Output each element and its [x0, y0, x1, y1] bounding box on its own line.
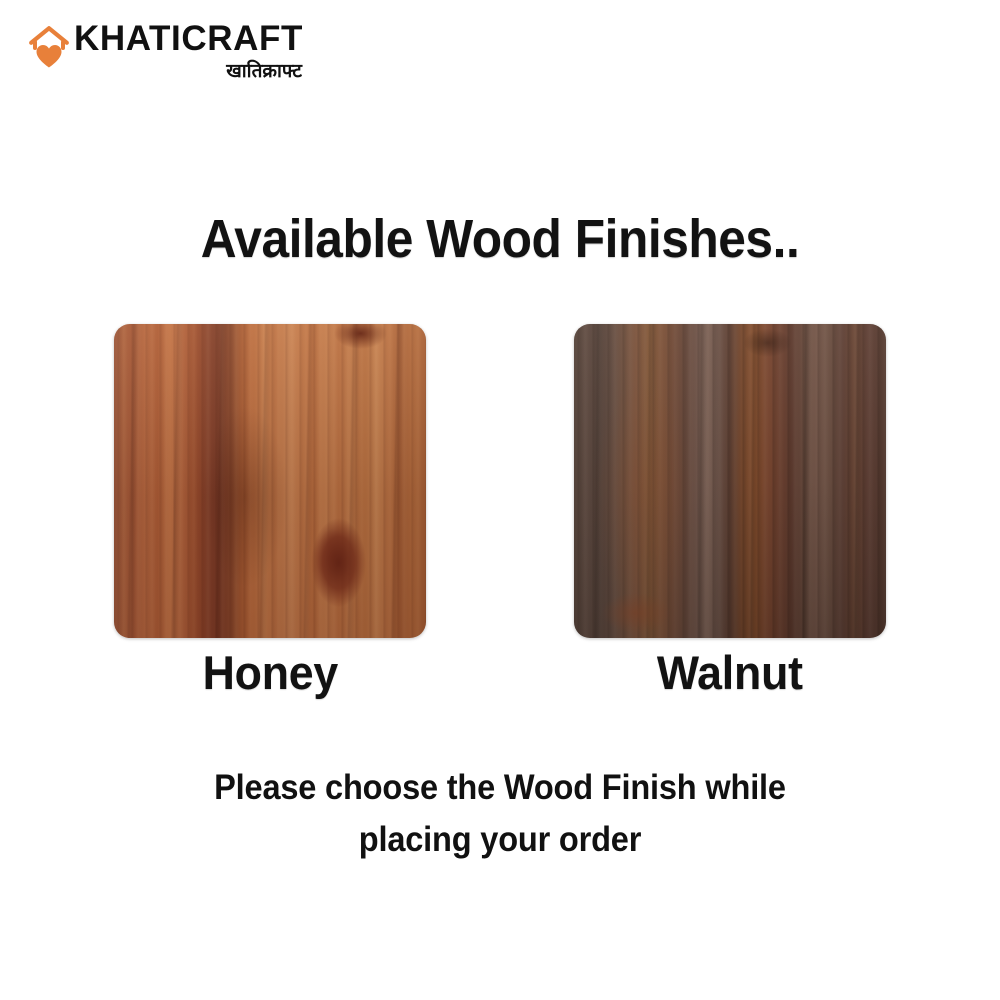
- wood-finish-poster: KHATICRAFT खातिक्राफ्ट Available Wood Fi…: [0, 0, 1000, 1000]
- instruction-note-line-1: Please choose the Wood Finish while: [35, 762, 965, 814]
- brand-wordmark: KHATICRAFT खातिक्राफ्ट: [74, 20, 303, 83]
- page-title: Available Wood Finishes..: [40, 208, 960, 270]
- instruction-note: Please choose the Wood Finish while plac…: [35, 762, 965, 866]
- walnut-knot-marks: [574, 324, 886, 638]
- finish-label-walnut: Walnut: [657, 644, 803, 702]
- honey-knot-marks: [114, 324, 426, 638]
- brand-logo[interactable]: KHATICRAFT खातिक्राफ्ट: [28, 20, 303, 83]
- brand-name: KHATICRAFT: [74, 20, 303, 58]
- finish-swatch-row: Honey Walnut: [0, 324, 1000, 694]
- brand-name-devanagari: खातिक्राफ्ट: [226, 59, 302, 83]
- house-heart-icon: [28, 24, 70, 70]
- finish-label-honey: Honey: [202, 644, 338, 702]
- finish-option-honey[interactable]: Honey: [114, 324, 426, 702]
- instruction-note-line-2: placing your order: [35, 814, 965, 866]
- finish-option-walnut[interactable]: Walnut: [574, 324, 886, 702]
- wood-swatch-honey[interactable]: [114, 324, 426, 638]
- wood-swatch-walnut[interactable]: [574, 324, 886, 638]
